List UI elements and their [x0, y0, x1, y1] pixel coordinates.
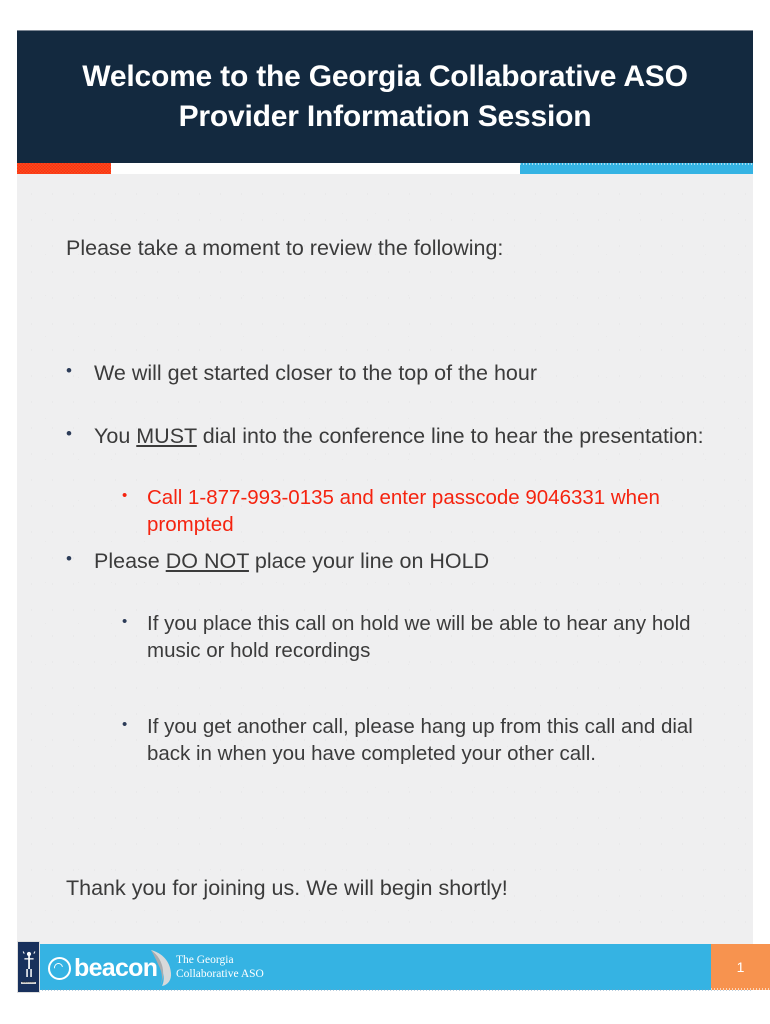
- bullet-dot-icon: •: [66, 547, 94, 571]
- page-number: 1: [737, 960, 745, 974]
- bullet-dot-icon: •: [122, 610, 147, 632]
- dial-in-instructions: Call 1-877-993-0135 and enter passcode 9…: [147, 484, 732, 539]
- list-item: • You MUST dial into the conference line…: [66, 422, 726, 451]
- bullet-dot-icon: •: [66, 422, 94, 446]
- page-number-tab: 1: [711, 944, 770, 990]
- slide-canvas: Welcome to the Georgia Collaborative ASO…: [0, 0, 770, 1024]
- list-item: • Please DO NOT place your line on HOLD: [66, 547, 726, 576]
- beacon-mark-box: BEACON: [17, 941, 40, 993]
- slide-body: Please take a moment to review the follo…: [17, 174, 753, 944]
- text-after: dial into the conference line to hear th…: [197, 424, 704, 448]
- page-title: Welcome to the Georgia Collaborative ASO…: [56, 57, 713, 136]
- list-item-label: You MUST dial into the conference line t…: [94, 422, 704, 451]
- partner-lockup-text: The Georgia Collaborative ASO: [176, 953, 264, 982]
- emphasis-must: MUST: [136, 424, 197, 448]
- list-item-label: If you place this call on hold we will b…: [147, 610, 722, 665]
- ribbon-icon: [148, 949, 174, 987]
- beacon-circle-icon: [48, 957, 71, 980]
- beacon-wordmark: beacon: [74, 956, 157, 981]
- page-tab-dots: [711, 988, 770, 990]
- mark-caption: BEACON: [21, 982, 35, 985]
- closing-text: Thank you for joining us. We will begin …: [66, 874, 508, 903]
- bullet-dot-icon: •: [122, 484, 147, 506]
- list-item: • If you get another call, please hang u…: [122, 713, 722, 768]
- footer-underline: [30, 989, 753, 991]
- bullet-dot-icon: •: [66, 359, 94, 383]
- list-item: • We will get started closer to the top …: [66, 359, 726, 388]
- text-after: place your line on HOLD: [249, 549, 489, 573]
- list-item-label: If you get another call, please hang up …: [147, 713, 722, 768]
- list-item-label: Please DO NOT place your line on HOLD: [94, 547, 489, 576]
- emphasis-do-not: DO NOT: [166, 549, 249, 573]
- beacon-logo: beacon: [48, 953, 157, 983]
- intro-text: Please take a moment to review the follo…: [66, 234, 503, 263]
- list-item: • If you place this call on hold we will…: [122, 610, 722, 665]
- list-item-dial-in: • Call 1-877-993-0135 and enter passcode…: [122, 484, 732, 539]
- text-before: You: [94, 424, 136, 448]
- slide-header: Welcome to the Georgia Collaborative ASO…: [17, 30, 753, 163]
- list-item-label: We will get started closer to the top of…: [94, 359, 537, 388]
- bullet-dot-icon: •: [122, 713, 147, 735]
- accent-segment-red: [17, 163, 111, 174]
- slide-footer: beacon The Georgia Collaborative ASO: [30, 944, 753, 990]
- accent-segment-blue: [520, 163, 753, 174]
- text-before: Please: [94, 549, 166, 573]
- accent-rule: [17, 163, 753, 174]
- lighthouse-figure-icon: [21, 950, 37, 980]
